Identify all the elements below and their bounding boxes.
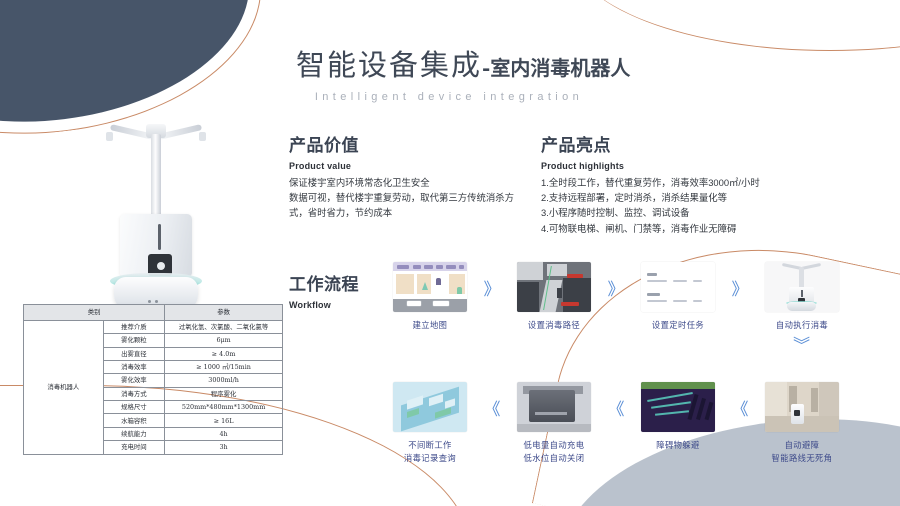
spec-value: 520mm*480mm*1300mm (165, 401, 283, 414)
workflow-arrow-right-icon: 》 (726, 262, 754, 312)
robot-arm-cap-right (199, 132, 206, 141)
spec-value: 3000ml/h (165, 374, 283, 387)
product-value-body: 保证楼宇室内环境常态化卫生安全 数据可视，替代楼宇重复劳动，取代第三方传统消杀方… (289, 175, 529, 221)
highlight-item: 1.全时段工作，替代重复劳作，消毒效率3000㎡/小时 (541, 175, 809, 190)
robot-hero-image (96, 112, 216, 290)
spec-key: 消毒方式 (103, 387, 165, 400)
table-row: 消毒机器人 推荐介质 过氧化氢、次氯酸、二氧化氯等 (24, 320, 283, 333)
workflow-step-set-path[interactable]: 设置消毒路径 (506, 262, 602, 332)
spec-value: ≥ 1000 ㎡/15min (165, 360, 283, 373)
spec-key: 推荐介质 (103, 320, 165, 333)
spec-key: 出雾直径 (103, 347, 165, 360)
workflow-row-bottom: 不间断工作 消毒记录查询 《 低电量自动充电 低水位自动关闭 《 (382, 382, 850, 465)
scheduled-task-thumbnail (641, 262, 715, 312)
workflow-step-build-map[interactable]: 建立地图 (382, 262, 478, 332)
disinfection-path-thumbnail (517, 262, 591, 312)
spec-key: 规格尺寸 (103, 401, 165, 414)
section-product-highlights: 产品亮点 Product highlights 1.全时段工作，替代重复劳作，消… (541, 131, 809, 236)
workflow-arrow-left-icon: 《 (478, 382, 506, 432)
page-title-sub: -室内消毒机器人 (482, 56, 630, 80)
spec-header-parameter: 参数 (165, 305, 283, 321)
spec-key: 雾化颗粒 (103, 334, 165, 347)
spec-value: 程序雾化 (165, 387, 283, 400)
spec-key: 续航能力 (103, 427, 165, 440)
workflow-step-obstacle-avoid[interactable]: 障碍物躲避 (630, 382, 726, 452)
spec-table-body: 消毒机器人 推荐介质 过氧化氢、次氯酸、二氧化氯等 雾化颗粒 6μm 出雾直径 … (24, 320, 283, 454)
page-title: 智能设备集成-室内消毒机器人 (296, 42, 856, 84)
spec-key: 雾化效率 (103, 374, 165, 387)
workflow-step-label: 自动避障 智能路线无死角 (772, 439, 833, 465)
workflow-arrow-right-icon: 》 (602, 262, 630, 312)
spec-table-header-row: 类别 参数 (24, 305, 283, 321)
slide-header: 智能设备集成-室内消毒机器人 Intelligent device integr… (296, 42, 856, 103)
product-highlights-heading-en: Product highlights (541, 161, 809, 171)
workflow-step-label: 设置消毒路径 (528, 319, 580, 332)
product-highlights-list: 1.全时段工作，替代重复劳作，消毒效率3000㎡/小时 2.支持远程部署，定时消… (541, 175, 809, 236)
workflow-step-label: 建立地图 (413, 319, 448, 332)
section-product-value: 产品价值 Product value 保证楼宇室内环境常态化卫生安全 数据可视，… (289, 131, 529, 221)
robot-mast (151, 134, 161, 226)
lidar-scan-thumbnail (641, 382, 715, 432)
workflow-step-label: 设置定时任务 (652, 319, 704, 332)
product-value-heading-en: Product value (289, 161, 529, 171)
spec-value: ≥ 16L (165, 414, 283, 427)
highlight-item: 2.支持远程部署，定时消杀，消杀结果量化等 (541, 190, 809, 205)
workflow-arrow-left-icon: 《 (602, 382, 630, 432)
workflow-step-smart-route[interactable]: 自动避障 智能路线无死角 (754, 382, 850, 465)
spec-table: 类别 参数 消毒机器人 推荐介质 过氧化氢、次氯酸、二氧化氯等 雾化颗粒 6μm… (23, 304, 283, 455)
isometric-building-thumbnail (393, 382, 467, 432)
product-highlights-heading-zh: 产品亮点 (541, 131, 809, 156)
robot-execute-thumbnail (765, 262, 839, 312)
spec-key: 充电时间 (103, 441, 165, 454)
spec-key: 水箱容积 (103, 414, 165, 427)
robot-nozzle-slot (158, 224, 161, 250)
spec-header-category: 类别 (24, 305, 165, 321)
workflow-step-continuous-work[interactable]: 不间断工作 消毒记录查询 (382, 382, 478, 465)
corridor-robot-thumbnail (765, 382, 839, 432)
highlight-item: 3.小程序随时控制、监控、调试设备 (541, 205, 809, 220)
workflow-diagram: 建立地图 》 设置消毒路径 》 (382, 262, 892, 492)
product-value-heading-zh: 产品价值 (289, 131, 529, 156)
spec-value: ≥ 4.0m (165, 347, 283, 360)
spec-value: 3h (165, 441, 283, 454)
workflow-step-auto-charge[interactable]: 低电量自动充电 低水位自动关闭 (506, 382, 602, 465)
spec-value: 过氧化氢、次氯酸、二氧化氯等 (165, 320, 283, 333)
workflow-step-auto-disinfect[interactable]: 自动执行消毒 (754, 262, 850, 332)
workflow-step-scheduled-task[interactable]: 设置定时任务 (630, 262, 726, 332)
page-title-main: 智能设备集成 (296, 48, 482, 82)
spec-value: 6μm (165, 334, 283, 347)
robot-arm-cap-left (106, 132, 113, 141)
spec-value: 4h (165, 427, 283, 440)
workflow-step-label: 低电量自动充电 低水位自动关闭 (524, 439, 585, 465)
workflow-arrow-left-icon: 《 (726, 382, 754, 432)
workflow-row-top: 建立地图 》 设置消毒路径 》 (382, 262, 850, 332)
spec-category-cell: 消毒机器人 (24, 320, 104, 454)
workflow-step-label: 障碍物躲避 (656, 439, 700, 452)
robot-indicator-dots (148, 290, 164, 293)
page-subtitle: Intelligent device integration (304, 91, 594, 103)
floor-map-thumbnail (393, 262, 467, 312)
workflow-arrow-down-icon: 》 (790, 336, 815, 353)
workflow-arrow-right-icon: 》 (478, 262, 506, 312)
charging-dock-thumbnail (517, 382, 591, 432)
robot-sensor-lens-icon (157, 262, 165, 270)
workflow-step-label: 不间断工作 消毒记录查询 (404, 439, 456, 465)
slide-canvas: 智能设备集成-室内消毒机器人 Intelligent device integr… (0, 0, 900, 506)
spec-key: 消毒效率 (103, 360, 165, 373)
workflow-step-label: 自动执行消毒 (776, 319, 828, 332)
highlight-item: 4.可物联电梯、闸机、门禁等，消毒作业无障碍 (541, 221, 809, 236)
